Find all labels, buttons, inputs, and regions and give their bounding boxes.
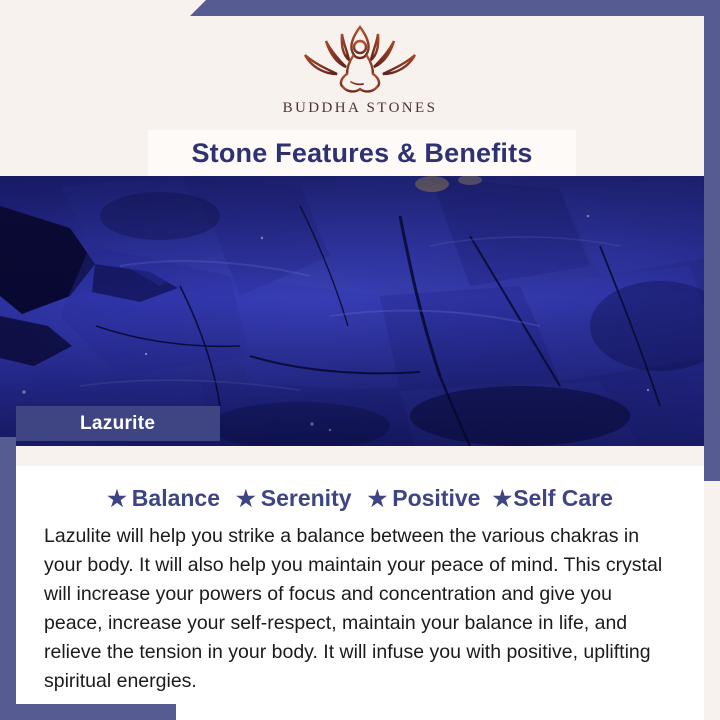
lotus-meditation-icon <box>285 22 435 94</box>
stone-name: Lazurite <box>16 413 155 435</box>
benefit-item-positive: ★ Positive <box>368 485 481 512</box>
brand-logo: BUDDHA STONES <box>0 22 720 117</box>
benefit-item-serenity: ★ Serenity <box>236 485 352 512</box>
decor-band-top <box>190 0 720 16</box>
decor-band-left <box>0 437 16 720</box>
stone-info-card: BUDDHA STONES Stone Features & Benefits <box>0 0 720 720</box>
star-icon: ★ <box>236 486 256 512</box>
content-area: ★ Balance ★ Serenity ★ Positive ★ Self C… <box>0 446 720 720</box>
benefit-label: Positive <box>392 485 480 512</box>
star-icon: ★ <box>492 486 512 512</box>
benefit-label: Serenity <box>261 485 352 512</box>
benefit-item-balance: ★ Balance <box>107 485 220 512</box>
page-title: Stone Features & Benefits <box>191 138 532 169</box>
content-card: ★ Balance ★ Serenity ★ Positive ★ Self C… <box>16 466 704 720</box>
benefits-list: ★ Balance ★ Serenity ★ Positive ★ Self C… <box>16 466 704 512</box>
stone-description: Lazulite will help you strike a balance … <box>44 522 674 696</box>
page-title-plate: Stone Features & Benefits <box>148 130 576 176</box>
stone-description-text: Lazulite will help you strike a balance … <box>44 522 674 696</box>
star-icon: ★ <box>107 486 127 512</box>
decor-band-right <box>704 0 720 481</box>
stone-name-tag: Lazurite <box>16 406 220 441</box>
brand-name: BUDDHA STONES <box>0 100 720 117</box>
benefit-label: Balance <box>132 485 220 512</box>
decor-band-bottom <box>0 704 176 720</box>
benefit-label: Self Care <box>513 485 613 512</box>
star-icon: ★ <box>368 486 388 512</box>
benefit-item-self-care: ★ Self Care <box>492 485 612 512</box>
